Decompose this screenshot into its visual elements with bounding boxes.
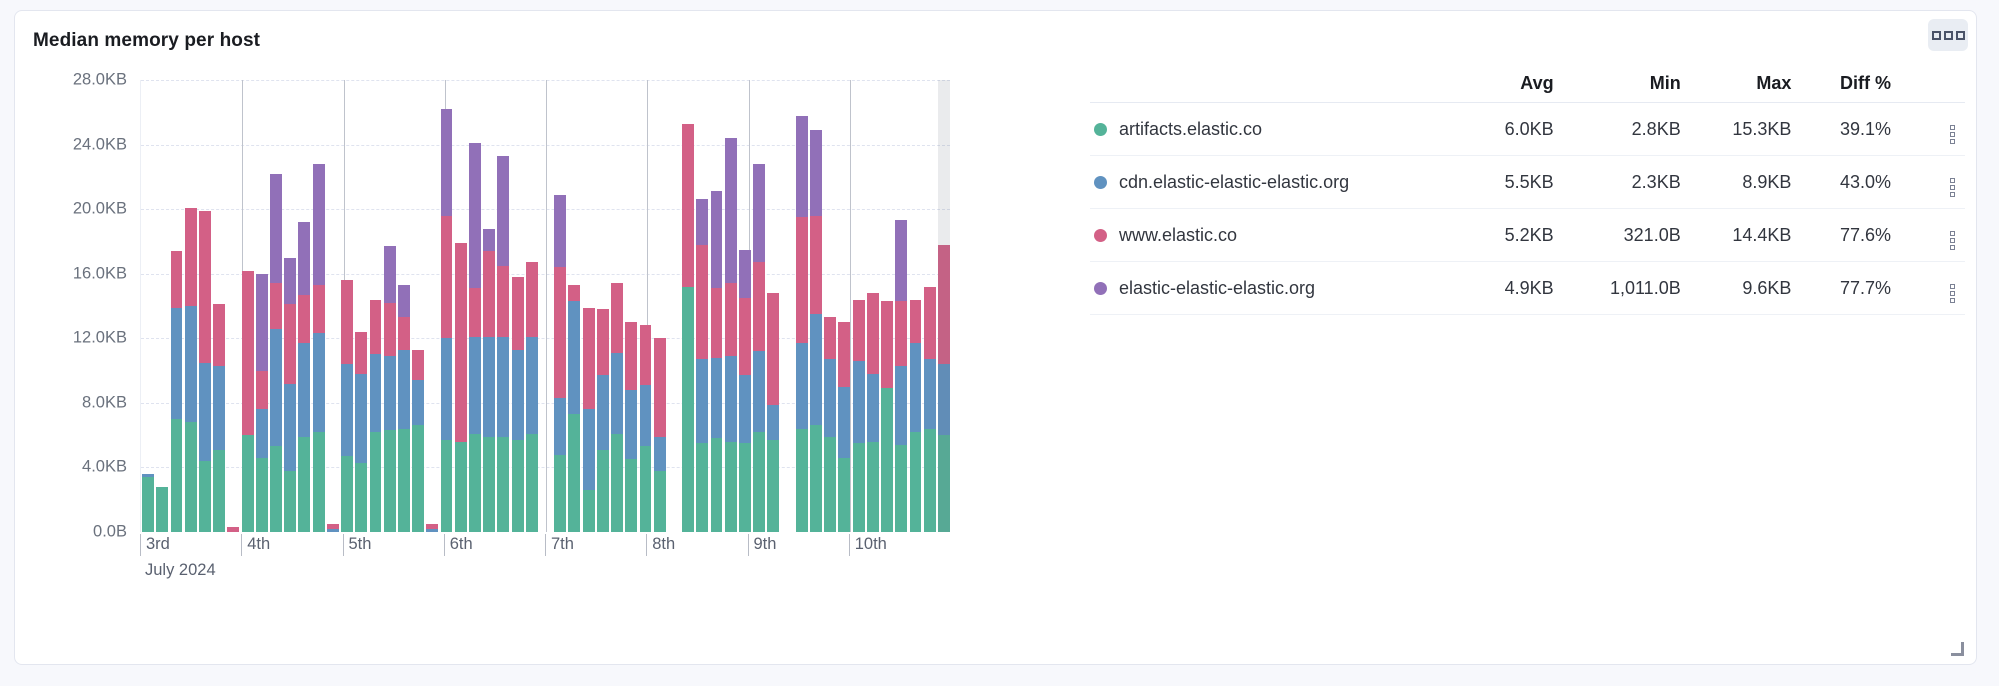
bar-segment: [213, 304, 225, 365]
legend-max-value: 15.3KB: [1691, 103, 1802, 156]
legend-min-value: 2.3KB: [1564, 156, 1691, 209]
bar-segment: [142, 477, 154, 532]
bar-segment: [199, 211, 211, 363]
bar-segment: [583, 308, 595, 410]
col-min[interactable]: Min: [1564, 73, 1691, 103]
bar-stack[interactable]: [767, 293, 779, 532]
bar-segment: [270, 174, 282, 284]
col-diff[interactable]: Diff %: [1801, 73, 1901, 103]
bar-segment: [355, 374, 367, 463]
x-axis-tick-label: 10th: [849, 534, 887, 556]
bar-segment: [384, 430, 396, 532]
bar-segment: [284, 304, 296, 383]
bar-stack[interactable]: [384, 246, 396, 532]
bar-segment: [810, 425, 822, 532]
bar-segment: [213, 366, 225, 450]
bar-segment: [313, 333, 325, 431]
bar-segment: [213, 450, 225, 532]
bar-segment: [682, 287, 694, 532]
bar-stack[interactable]: [838, 322, 850, 532]
bar-segment: [398, 317, 410, 349]
bar-chart: 28.0KB24.0KB20.0KB16.0KB12.0KB8.0KB4.0KB…: [45, 66, 1065, 636]
bar-segment: [696, 359, 708, 443]
row-actions-cell[interactable]: [1901, 262, 1965, 315]
bar-stack[interactable]: [313, 164, 325, 532]
bar-segment: [824, 317, 836, 359]
bar-segment: [696, 245, 708, 360]
bar-stack[interactable]: [554, 195, 566, 532]
bar-stack[interactable]: [355, 332, 367, 532]
bar-segment: [469, 288, 481, 336]
bar-stack[interactable]: [370, 300, 382, 532]
bar-stack[interactable]: [142, 474, 154, 532]
bar-segment: [867, 293, 879, 374]
table-row[interactable]: elastic-elastic-elastic.org4.9KB1,011.0B…: [1090, 262, 1965, 315]
drag-square-2: [1944, 31, 1953, 40]
bar-segment: [654, 437, 666, 471]
row-actions-cell[interactable]: [1901, 209, 1965, 262]
bar-segment: [796, 429, 808, 532]
legend-series-cell[interactable]: www.elastic.co: [1090, 209, 1467, 262]
legend-series-cell[interactable]: artifacts.elastic.co: [1090, 103, 1467, 156]
bar-segment: [611, 283, 623, 352]
bar-segment: [568, 414, 580, 532]
page-title: Median memory per host: [33, 30, 260, 52]
bar-segment: [469, 434, 481, 532]
y-axis-tick-label: 0.0B: [93, 523, 127, 542]
bar-segment: [910, 300, 922, 344]
bar-stack[interactable]: [298, 222, 310, 532]
row-menu-icon[interactable]: [1950, 284, 1955, 303]
bar-segment: [725, 283, 737, 356]
bar-stack[interactable]: [853, 300, 865, 532]
legend-diff-value: 77.7%: [1801, 262, 1901, 315]
bar-stack[interactable]: [483, 229, 495, 532]
bar-segment: [284, 258, 296, 305]
bar-stack[interactable]: [526, 262, 538, 532]
bar-segment: [313, 164, 325, 285]
bar-segment: [526, 434, 538, 532]
bar-segment: [526, 337, 538, 434]
bar-segment: [384, 356, 396, 430]
bar-stack[interactable]: [753, 164, 765, 532]
bar-segment: [398, 429, 410, 532]
bar-stack[interactable]: [682, 124, 694, 532]
bar-stack[interactable]: [497, 156, 509, 532]
bar-segment: [384, 303, 396, 356]
bar-segment: [682, 124, 694, 287]
row-menu-square: [1950, 139, 1955, 144]
bar-segment: [242, 435, 254, 532]
y-axis: 28.0KB24.0KB20.0KB16.0KB12.0KB8.0KB4.0KB…: [45, 66, 133, 536]
bar-stack[interactable]: [625, 322, 637, 532]
bar-segment: [355, 463, 367, 532]
bar-segment: [185, 306, 197, 422]
bar-stack[interactable]: [284, 258, 296, 532]
x-axis: 3rd4th5th6th7th8th9th10th: [140, 534, 950, 594]
bar-segment: [640, 385, 652, 446]
col-series[interactable]: [1090, 73, 1467, 103]
row-menu-square: [1950, 291, 1955, 296]
x-axis-sublabel: July 2024: [145, 561, 216, 580]
bar-segment: [398, 350, 410, 429]
bar-segment: [171, 308, 183, 419]
bar-stack[interactable]: [654, 338, 666, 532]
bar-segment: [412, 380, 424, 425]
table-header: Avg Min Max Diff %: [1090, 73, 1965, 103]
bar-stack[interactable]: [455, 243, 467, 532]
row-menu-square: [1950, 185, 1955, 190]
bar-segment: [554, 398, 566, 454]
table-row[interactable]: cdn.elastic-elastic-elastic.org5.5KB2.3K…: [1090, 156, 1965, 209]
bar-segment: [611, 353, 623, 434]
legend-diff-value: 77.6%: [1801, 209, 1901, 262]
bar-segment: [725, 356, 737, 442]
bar-stack[interactable]: [810, 130, 822, 532]
bar-segment: [796, 116, 808, 218]
series-label: artifacts.elastic.co: [1119, 119, 1262, 140]
bar-stack[interactable]: [469, 143, 481, 532]
bar-segment: [796, 343, 808, 429]
row-menu-square: [1950, 298, 1955, 303]
bar-segment: [227, 527, 239, 532]
bar-stack[interactable]: [185, 208, 197, 532]
bar-segment: [711, 191, 723, 288]
bar-segment: [625, 322, 637, 390]
dashboard-panel: Median memory per host 28.0KB24.0KB20.0K…: [14, 10, 1977, 665]
y-axis-tick-label: 4.0KB: [82, 458, 127, 477]
drag-square-1: [1932, 31, 1941, 40]
bar-stack[interactable]: [327, 524, 339, 532]
bar-segment: [711, 438, 723, 532]
x-axis-tick-label: 6th: [444, 534, 473, 556]
row-menu-square: [1950, 178, 1955, 183]
bar-stack[interactable]: [256, 274, 268, 532]
legend-diff-value: 43.0%: [1801, 156, 1901, 209]
boxes-horizontal-icon[interactable]: [1928, 19, 1968, 51]
series-label: cdn.elastic-elastic-elastic.org: [1119, 172, 1349, 193]
bar-stack[interactable]: [725, 138, 737, 532]
bar-segment: [725, 442, 737, 532]
bar-segment: [512, 277, 524, 350]
bar-segment: [156, 487, 168, 532]
legend-max-value: 9.6KB: [1691, 262, 1802, 315]
bar-segment: [824, 437, 836, 532]
x-axis-tick-label: 4th: [241, 534, 270, 556]
legend-max-value: 8.9KB: [1691, 156, 1802, 209]
bar-series-container[interactable]: [141, 80, 950, 532]
bar-segment: [298, 343, 310, 437]
bar-segment: [924, 429, 936, 532]
bar-segment: [924, 287, 936, 360]
bar-segment: [597, 450, 609, 532]
bar-segment: [199, 363, 211, 461]
bar-segment: [384, 246, 396, 302]
series-color-dot-icon: [1094, 176, 1107, 189]
bar-segment: [483, 251, 495, 337]
bar-segment: [895, 220, 907, 301]
row-menu-square: [1950, 238, 1955, 243]
bar-stack[interactable]: [597, 309, 609, 532]
bar-segment: [895, 445, 907, 532]
bar-segment: [867, 374, 879, 442]
bar-stack[interactable]: [881, 301, 893, 532]
bar-stack[interactable]: [910, 300, 922, 532]
bar-segment: [725, 138, 737, 283]
bar-segment: [796, 217, 808, 343]
bar-segment: [441, 216, 453, 339]
bar-stack[interactable]: [412, 350, 424, 532]
bar-segment: [284, 384, 296, 471]
bar-segment: [426, 529, 438, 532]
bar-segment: [242, 271, 254, 436]
x-axis-tick-label: 9th: [748, 534, 777, 556]
bar-segment: [838, 458, 850, 532]
y-axis-tick-label: 8.0KB: [82, 393, 127, 412]
bar-stack[interactable]: [711, 191, 723, 532]
row-menu-icon[interactable]: [1950, 125, 1955, 144]
legend-table: Avg Min Max Diff % artifacts.elastic.co6…: [1090, 73, 1965, 315]
resize-corner-icon[interactable]: [1950, 640, 1966, 656]
bar-segment: [739, 250, 751, 298]
row-menu-square: [1950, 132, 1955, 137]
bar-segment: [753, 262, 765, 351]
bar-segment: [441, 109, 453, 216]
bar-segment: [739, 443, 751, 532]
bar-stack[interactable]: [568, 285, 580, 532]
bar-segment: [597, 309, 609, 375]
bar-segment: [767, 293, 779, 404]
bar-segment: [298, 437, 310, 532]
bar-stack[interactable]: [199, 211, 211, 532]
bar-segment: [370, 354, 382, 431]
bar-segment: [483, 337, 495, 437]
y-axis-tick-label: 28.0KB: [73, 71, 127, 90]
bar-segment: [497, 437, 509, 532]
bar-segment: [824, 359, 836, 436]
bar-segment: [767, 440, 779, 532]
table-row[interactable]: www.elastic.co5.2KB321.0B14.4KB77.6%: [1090, 209, 1965, 262]
bar-segment: [810, 130, 822, 216]
bar-segment: [512, 350, 524, 440]
bar-segment: [483, 229, 495, 252]
bar-segment: [853, 443, 865, 532]
bar-stack[interactable]: [156, 487, 168, 532]
bar-segment: [554, 455, 566, 532]
bar-segment: [270, 329, 282, 447]
bar-segment: [568, 301, 580, 414]
bar-segment: [298, 222, 310, 295]
bar-segment: [611, 434, 623, 532]
y-axis-tick-label: 12.0KB: [73, 329, 127, 348]
legend-max-value: 14.4KB: [1691, 209, 1802, 262]
bar-segment: [810, 314, 822, 425]
bar-segment: [355, 332, 367, 374]
bar-stack[interactable]: [640, 325, 652, 532]
series-label: elastic-elastic-elastic.org: [1119, 278, 1315, 299]
bar-segment: [767, 405, 779, 441]
x-axis-tick-label: 3rd: [140, 534, 170, 556]
series-color-dot-icon: [1094, 229, 1107, 242]
bar-segment: [483, 437, 495, 532]
row-menu-icon[interactable]: [1950, 178, 1955, 197]
x-axis-tick-label: 8th: [646, 534, 675, 556]
bar-segment: [554, 267, 566, 398]
table-header-row: Avg Min Max Diff %: [1090, 73, 1965, 103]
bar-segment: [455, 442, 467, 532]
bar-segment: [910, 343, 922, 432]
bar-segment: [711, 358, 723, 439]
bar-stack[interactable]: [426, 524, 438, 532]
bar-segment: [696, 443, 708, 532]
bar-stack[interactable]: [611, 283, 623, 532]
row-actions-cell[interactable]: [1901, 103, 1965, 156]
drag-square-3: [1956, 31, 1965, 40]
legend-avg-value: 5.2KB: [1467, 209, 1564, 262]
bar-segment: [753, 351, 765, 432]
plot-area[interactable]: [140, 80, 950, 532]
bar-segment: [583, 490, 595, 532]
bar-segment: [554, 195, 566, 268]
bar-segment: [370, 300, 382, 355]
bar-segment: [853, 300, 865, 361]
bar-segment: [256, 274, 268, 371]
bar-stack[interactable]: [398, 285, 410, 532]
bar-segment: [441, 338, 453, 440]
bar-stack[interactable]: [924, 287, 936, 532]
bar-stack[interactable]: [583, 308, 595, 532]
bar-segment: [256, 371, 268, 410]
bar-segment: [185, 422, 197, 532]
bar-segment: [810, 216, 822, 314]
bar-segment: [455, 243, 467, 442]
bar-segment: [341, 280, 353, 364]
bar-segment: [512, 440, 524, 532]
bar-segment: [497, 266, 509, 337]
bar-segment: [711, 288, 723, 357]
bar-segment: [341, 456, 353, 532]
bar-stack[interactable]: [895, 220, 907, 532]
bar-segment: [398, 285, 410, 317]
bar-segment: [838, 322, 850, 387]
bar-stack[interactable]: [242, 271, 254, 533]
bar-segment: [171, 251, 183, 307]
bar-segment: [881, 388, 893, 532]
legend-avg-value: 4.9KB: [1467, 262, 1564, 315]
bar-stack[interactable]: [867, 293, 879, 532]
y-axis-tick-label: 16.0KB: [73, 264, 127, 283]
series-color-dot-icon: [1094, 123, 1107, 136]
legend-series-cell[interactable]: elastic-elastic-elastic.org: [1090, 262, 1467, 315]
y-axis-tick-label: 24.0KB: [73, 135, 127, 154]
row-actions-cell[interactable]: [1901, 156, 1965, 209]
legend-diff-value: 39.1%: [1801, 103, 1901, 156]
bar-segment: [753, 432, 765, 532]
bar-segment: [341, 364, 353, 456]
bar-stack[interactable]: [270, 174, 282, 532]
legend-avg-value: 5.5KB: [1467, 156, 1564, 209]
bar-stack[interactable]: [739, 250, 751, 533]
bar-stack[interactable]: [824, 317, 836, 532]
bar-segment: [284, 471, 296, 532]
bar-segment: [867, 442, 879, 532]
row-menu-square: [1950, 125, 1955, 130]
bar-stack[interactable]: [341, 280, 353, 532]
bar-segment: [327, 529, 339, 532]
bar-segment: [497, 156, 509, 266]
bar-segment: [924, 359, 936, 428]
col-max[interactable]: Max: [1691, 73, 1802, 103]
bar-segment: [171, 419, 183, 532]
bar-stack[interactable]: [441, 109, 453, 532]
bar-segment: [753, 164, 765, 262]
bar-segment: [256, 458, 268, 532]
bar-segment: [739, 375, 751, 443]
bar-segment: [625, 390, 637, 459]
bar-segment: [838, 387, 850, 458]
row-menu-square: [1950, 245, 1955, 250]
bar-segment: [640, 325, 652, 385]
legend-min-value: 2.8KB: [1564, 103, 1691, 156]
row-menu-icon[interactable]: [1950, 231, 1955, 250]
bar-segment: [910, 432, 922, 532]
partial-bucket-overlay: [938, 80, 950, 532]
bar-segment: [568, 285, 580, 301]
col-avg[interactable]: Avg: [1467, 73, 1564, 103]
bar-stack[interactable]: [512, 277, 524, 532]
bar-segment: [625, 459, 637, 532]
bar-segment: [853, 361, 865, 443]
bar-segment: [469, 337, 481, 434]
bar-segment: [313, 285, 325, 333]
bar-stack[interactable]: [227, 527, 239, 532]
legend-min-value: 321.0B: [1564, 209, 1691, 262]
bar-segment: [881, 301, 893, 388]
bar-segment: [185, 208, 197, 306]
bar-segment: [270, 283, 282, 328]
bar-segment: [199, 461, 211, 532]
series-stats-table: Avg Min Max Diff % artifacts.elastic.co6…: [1090, 73, 1965, 315]
row-menu-square: [1950, 284, 1955, 289]
bar-segment: [298, 295, 310, 343]
bar-segment: [313, 432, 325, 532]
table-row[interactable]: artifacts.elastic.co6.0KB2.8KB15.3KB39.1…: [1090, 103, 1965, 156]
bar-stack[interactable]: [696, 199, 708, 532]
bar-segment: [583, 409, 595, 490]
bar-segment: [412, 425, 424, 532]
y-axis-tick-label: 20.0KB: [73, 200, 127, 219]
bar-segment: [256, 409, 268, 457]
resize-bar-horizontal: [1951, 653, 1964, 656]
bar-segment: [497, 337, 509, 437]
row-menu-square: [1950, 192, 1955, 197]
bar-segment: [526, 262, 538, 336]
row-menu-square: [1950, 231, 1955, 236]
bar-stack[interactable]: [213, 304, 225, 532]
series-color-dot-icon: [1094, 282, 1107, 295]
bar-segment: [654, 471, 666, 532]
bar-segment: [696, 199, 708, 244]
x-axis-tick-label: 7th: [545, 534, 574, 556]
bar-stack[interactable]: [171, 251, 183, 532]
legend-avg-value: 6.0KB: [1467, 103, 1564, 156]
bar-segment: [895, 366, 907, 445]
bar-segment: [270, 446, 282, 532]
table-body: artifacts.elastic.co6.0KB2.8KB15.3KB39.1…: [1090, 103, 1965, 315]
legend-series-cell[interactable]: cdn.elastic-elastic-elastic.org: [1090, 156, 1467, 209]
bar-segment: [441, 440, 453, 532]
bar-stack[interactable]: [796, 116, 808, 532]
